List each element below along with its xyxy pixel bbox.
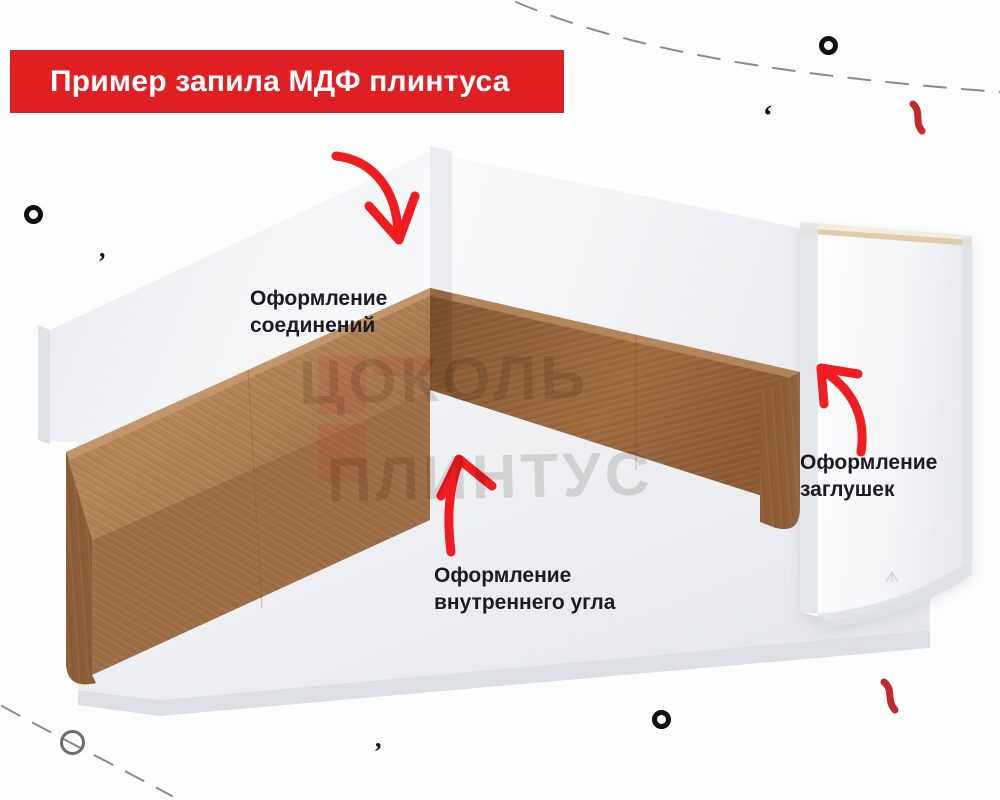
comma-mark-bottom: , xyxy=(375,726,382,752)
ring-dot-bottom xyxy=(652,710,671,729)
ring-dot-left xyxy=(24,205,43,224)
comma-mark-top-right: , xyxy=(764,104,772,134)
callout-label-end-caps: Оформление заглушек xyxy=(800,450,937,504)
callout-label-inner-corner: Оформление внутреннего угла xyxy=(434,563,615,617)
comma-mark-left: , xyxy=(99,236,106,262)
plinth-corner-illustration xyxy=(0,0,1000,800)
ring-outline-bottom-left xyxy=(60,730,85,755)
image-canvas: ЦОКОЛЬ ПЛИНТУС , , , Пример запила МДФ п… xyxy=(0,0,1000,800)
page-title: Пример запила МДФ плинтуса xyxy=(50,65,510,99)
title-banner: Пример запила МДФ плинтуса xyxy=(10,50,564,113)
ring-dot-top xyxy=(819,36,838,55)
cap-print-mark xyxy=(880,565,906,587)
callout-label-joints: Оформление соединений xyxy=(250,286,387,340)
plinth-end-block xyxy=(760,372,800,529)
plinth-scene-svg xyxy=(0,0,1000,800)
